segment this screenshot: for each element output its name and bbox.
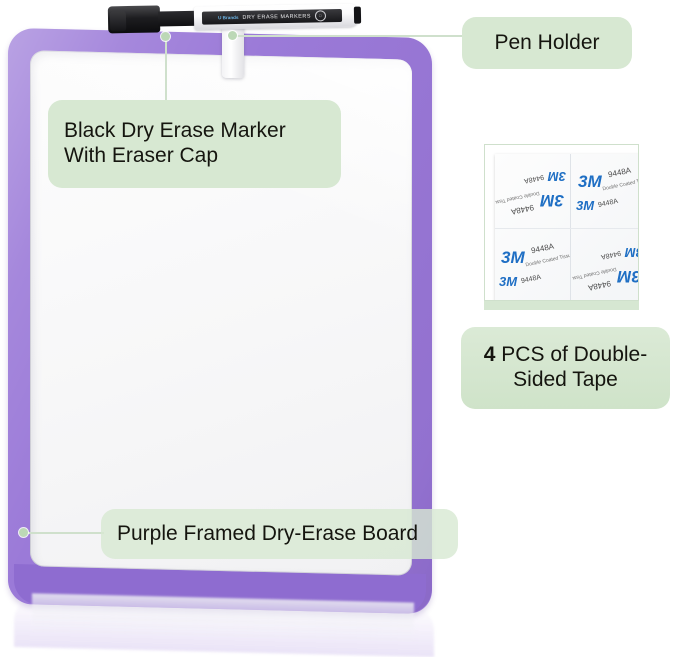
tape-code-text: 9448A [600, 249, 621, 260]
connector-dot-pen-holder [228, 31, 237, 40]
callout-tape-rest: PCS of Double- [495, 343, 647, 366]
marker-eraser-cap [108, 5, 161, 33]
tape-piece: 3M 9448A Double Coated Tissue Tape 3M 94… [572, 230, 639, 301]
callout-tape-label: 4 PCS of Double- Sided Tape [484, 343, 647, 393]
marker-tip [354, 7, 361, 24]
tape-code-text: 9448A [587, 279, 612, 293]
callout-board-label: Purple Framed Dry-Erase Board [117, 522, 418, 547]
tape-piece: 3M 9448A Double Coated Tissue Tape 3M 94… [495, 154, 570, 228]
tape-piece: 3M 9448A Double Coated Tissue Tape 3M 94… [572, 154, 639, 228]
callout-tape-line-2: Sided Tape [484, 368, 647, 393]
connector-line-pen-holder [236, 35, 464, 37]
callout-pen-holder-label: Pen Holder [494, 31, 599, 56]
dry-erase-marker: U Brands DRY ERASE MARKERS ◌ [108, 0, 361, 34]
tape-brand-text: 3M [617, 266, 639, 286]
tape-sheet: 3M 9448A Double Coated Tissue Tape 3M 94… [495, 154, 639, 301]
tape-brand-text: 3M [540, 190, 564, 210]
marker-brand-text: U Brands [218, 15, 239, 20]
callout-marker-line-1: Black Dry Erase Marker [64, 119, 286, 144]
callout-tape-line-1: 4 PCS of Double- [484, 343, 647, 368]
tape-brand-text: 3M [499, 274, 517, 289]
callout-board: Purple Framed Dry-Erase Board [101, 509, 458, 559]
tape-piece: 3M 9448A Double Coated Tissue Tape 3M 94… [495, 230, 570, 301]
connector-dot-marker [161, 32, 170, 41]
callout-marker-line-2: With Eraser Cap [64, 144, 286, 169]
callout-tape: 4 PCS of Double- Sided Tape [461, 327, 670, 409]
tape-code-text: 9448A [523, 173, 544, 184]
callout-marker: Black Dry Erase Marker With Eraser Cap [48, 100, 341, 188]
tape-brand-text: 3M [578, 172, 602, 192]
tape-callout-connector [484, 301, 639, 310]
callout-pen-holder: Pen Holder [462, 17, 632, 69]
tape-product-image: 3M 9448A Double Coated Tissue Tape 3M 94… [484, 144, 639, 301]
tape-code-text: 9448A [530, 242, 555, 256]
marker-cap-top [110, 11, 126, 31]
infographic-canvas: U Brands DRY ERASE MARKERS ◌ 3M 9448A Do… [0, 0, 679, 655]
callout-marker-label: Black Dry Erase Marker With Eraser Cap [64, 119, 286, 169]
tape-code-text: 9448A [607, 166, 632, 180]
tape-brand-text: 3M [576, 198, 594, 213]
tape-code-text: 9448A [510, 203, 535, 217]
tape-divider-horizontal [495, 228, 639, 229]
tape-code-text: 9448A [520, 274, 541, 285]
marker-label-text: DRY ERASE MARKERS [242, 13, 311, 20]
marker-label: U Brands DRY ERASE MARKERS ◌ [202, 9, 342, 25]
connector-line-marker [165, 36, 167, 102]
tape-code-text: 9448A [597, 198, 618, 209]
connector-dot-board [19, 528, 28, 537]
connector-line-board [26, 532, 104, 534]
marker-logo-icon: ◌ [315, 10, 326, 21]
tape-brand-text: 3M [548, 169, 566, 184]
marker-neck [158, 11, 198, 27]
tape-brand-text: 3M [625, 245, 639, 260]
tape-count: 4 [484, 343, 496, 366]
tape-brand-text: 3M [501, 248, 525, 268]
